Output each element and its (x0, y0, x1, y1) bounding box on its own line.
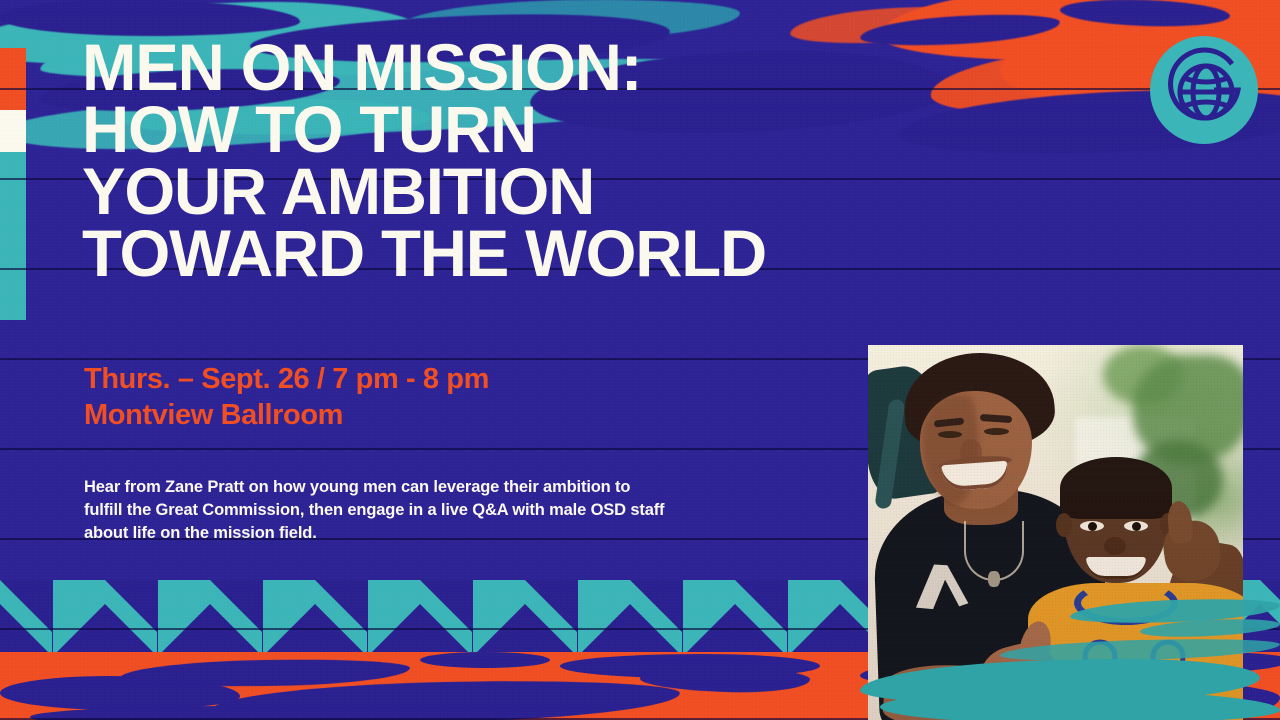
headline-line-4: TOWARD THE WORLD (82, 222, 766, 284)
event-details: Thurs. – Sept. 26 / 7 pm - 8 pm Montview… (84, 362, 489, 434)
left-accent-bar (0, 48, 26, 320)
globe-g-monogram-logo (1150, 36, 1258, 144)
description-line-3: about life on the mission field. (84, 522, 774, 545)
description-line-2: fulfill the Great Commission, then engag… (84, 499, 774, 522)
brush-stroke-navy (420, 652, 550, 668)
headline-line-2: HOW TO TURN (82, 98, 766, 160)
event-datetime: Thurs. – Sept. 26 / 7 pm - 8 pm (84, 362, 489, 398)
event-location: Montview Ballroom (84, 398, 489, 434)
event-description: Hear from Zane Pratt on how young men ca… (84, 476, 774, 545)
event-poster: MEN ON MISSION: HOW TO TURN YOUR AMBITIO… (0, 0, 1280, 720)
page-title: MEN ON MISSION: HOW TO TURN YOUR AMBITIO… (82, 36, 773, 284)
headline-line-3: YOUR AMBITION (82, 160, 766, 222)
description-line-1: Hear from Zane Pratt on how young men ca… (84, 476, 774, 499)
accent-bar-segment-teal (0, 152, 26, 320)
accent-bar-segment-cream (0, 110, 26, 152)
headline-line-1: MEN ON MISSION: (82, 36, 766, 98)
accent-bar-segment-orange (0, 48, 26, 110)
